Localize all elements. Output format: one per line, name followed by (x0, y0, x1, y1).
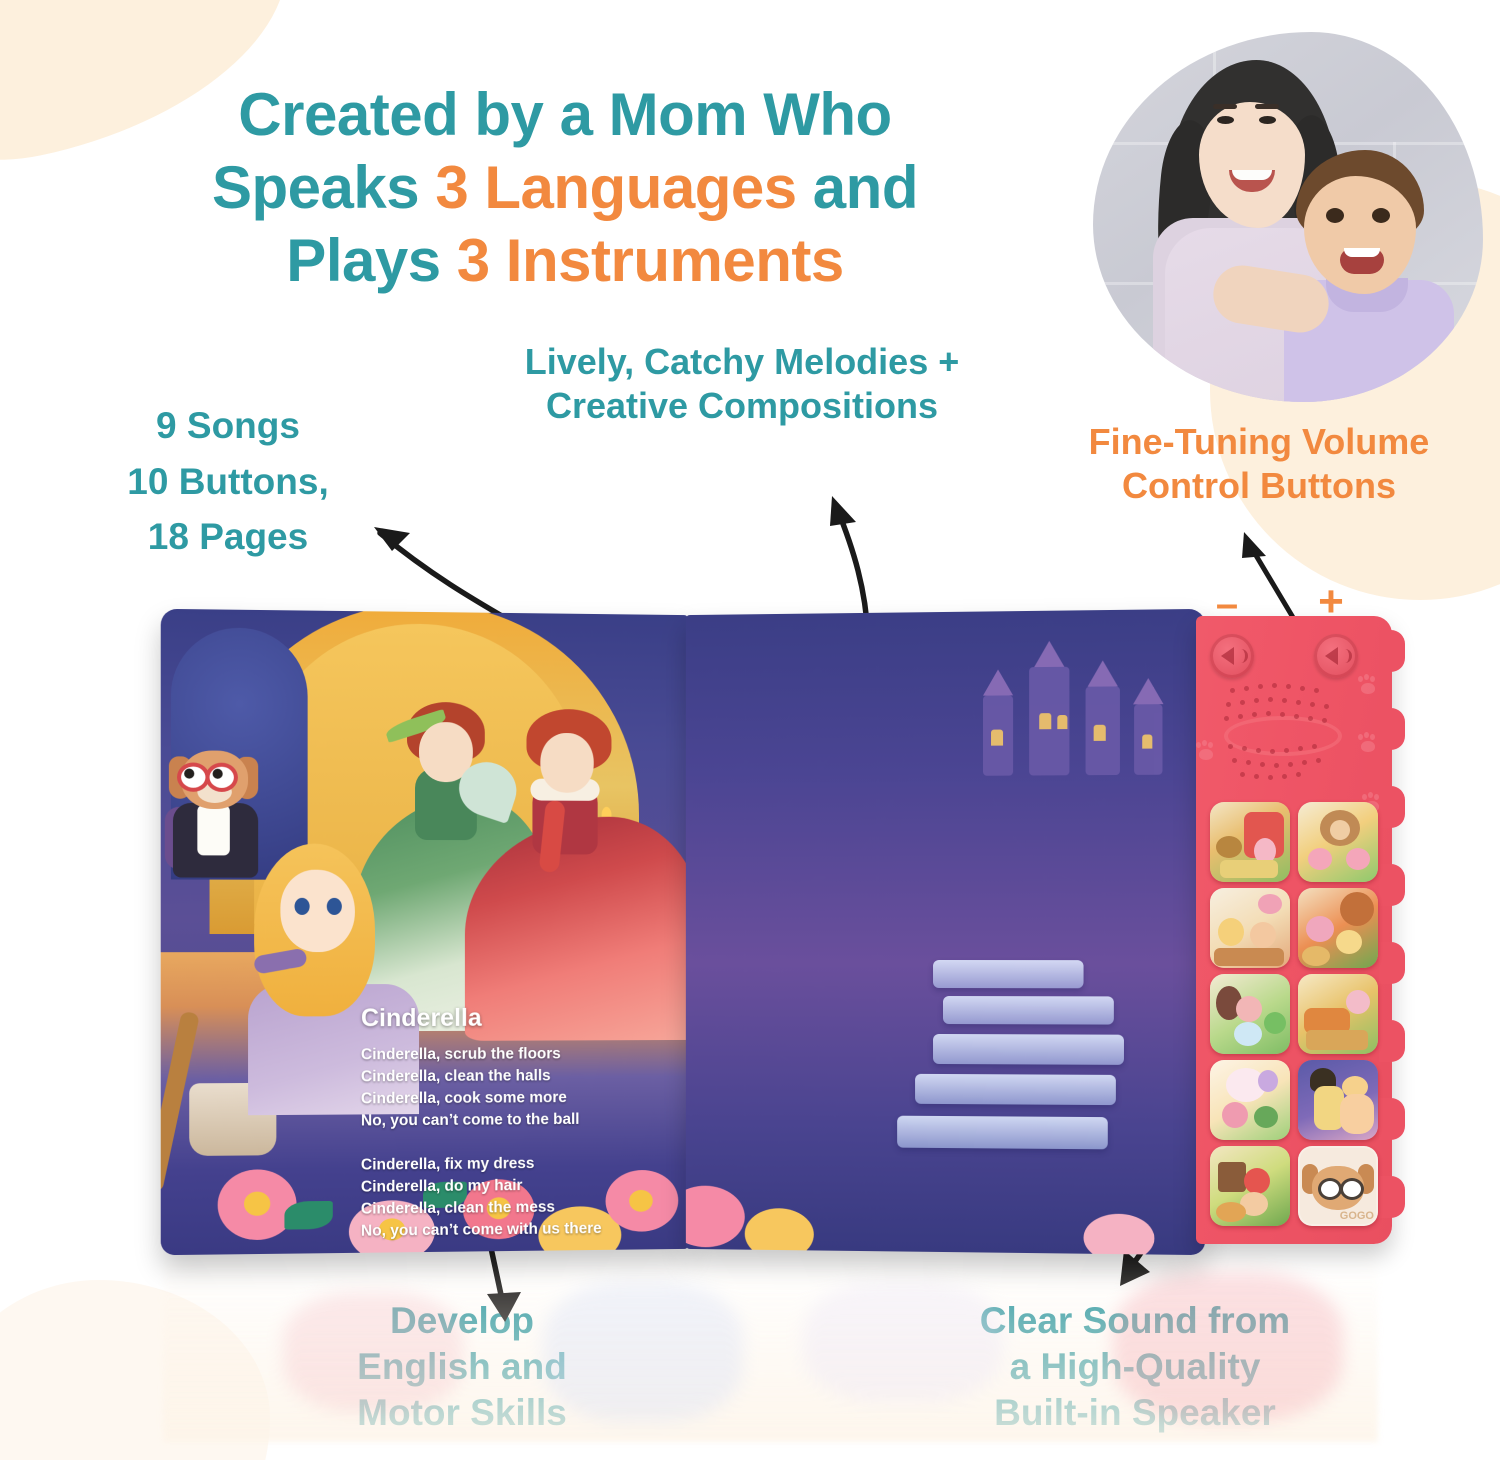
sound-button-1[interactable] (1210, 802, 1290, 882)
headline-line-2-highlight: 3 Languages (435, 154, 796, 221)
headline-line-2-suffix: and (797, 154, 918, 221)
glass-staircase (933, 934, 1205, 1176)
dog-mascot-tuxedo (171, 750, 260, 876)
callout-melodies: Lively, Catchy Melodies + Creative Compo… (452, 340, 1032, 428)
left-page-lyrics: Cinderella, scrub the floors Cinderella,… (361, 1043, 639, 1243)
sound-button-5[interactable] (1210, 974, 1290, 1054)
creator-photo (1093, 32, 1483, 402)
headline-line-2-prefix: Speaks (212, 154, 435, 221)
module-wavy-edge (1379, 616, 1405, 1244)
headline-line-3-highlight: 3 Instruments (457, 227, 844, 294)
volume-up-label: + (1309, 580, 1353, 624)
castle-silhouette (973, 623, 1185, 776)
sound-button-6[interactable] (1298, 974, 1378, 1054)
paw-print-icon (1358, 676, 1378, 694)
foreground-flowers-right (686, 609, 1205, 615)
toddler-face (1304, 176, 1416, 294)
speaker-plus-icon (1325, 647, 1338, 665)
dog-eye-right (213, 769, 223, 779)
headline-line-1: Created by a Mom Who (120, 78, 1010, 151)
sound-module[interactable]: GOGO (1196, 616, 1392, 1244)
dog-eye-left (184, 769, 194, 779)
product-infographic: Created by a Mom Who Speaks 3 Languages … (0, 0, 1500, 1460)
callout-songs-buttons-pages: 9 Songs 10 Buttons, 18 Pages (78, 398, 378, 565)
mom-eye-right (1259, 116, 1276, 124)
sound-button-8[interactable] (1298, 1060, 1378, 1140)
photo-blob-mask (1093, 32, 1483, 402)
sound-button-grid[interactable]: GOGO (1210, 802, 1378, 1232)
mom-eyebrow-right (1255, 104, 1279, 109)
speaker-grille (1216, 678, 1348, 786)
book-page-right[interactable]: I will be the one To marry the prince, i… (686, 609, 1205, 1255)
headline-line-3: Plays 3 Instruments (120, 224, 1010, 297)
sound-button-4[interactable] (1298, 888, 1378, 968)
book-page-left[interactable]: Cinderella Cinderella, scrub the floors … (161, 609, 688, 1255)
mascot-glasses-right (1340, 1178, 1364, 1200)
volume-up-button[interactable] (1314, 634, 1358, 678)
volume-down-label: – (1205, 584, 1249, 624)
page-headline: Created by a Mom Who Speaks 3 Languages … (120, 78, 1010, 298)
paw-print-icon (1196, 742, 1216, 760)
toddler-eye-left (1326, 208, 1344, 223)
sound-button-9[interactable] (1210, 1146, 1290, 1226)
speaker-minus-icon (1221, 647, 1234, 665)
sound-button-10[interactable]: GOGO (1298, 1146, 1378, 1226)
sound-button-3[interactable] (1210, 888, 1290, 968)
headline-line-3-prefix: Plays (286, 227, 456, 294)
gogo-brand-mark: GOGO (1340, 1211, 1374, 1222)
stepsister-red (483, 708, 685, 1037)
volume-down-button[interactable] (1210, 634, 1254, 678)
sound-button-2[interactable] (1298, 802, 1378, 882)
volume-arc (1340, 649, 1352, 663)
paw-print-icon (1358, 734, 1378, 752)
song-title: Cinderella (361, 1004, 482, 1033)
callout-volume-control: Fine-Tuning Volume Control Buttons (1034, 420, 1484, 508)
mascot-glasses-left (1318, 1178, 1342, 1200)
red-lady-face (540, 733, 593, 793)
cinderella-face (280, 870, 355, 952)
cinderella-eye-left (295, 898, 310, 915)
sound-button-7[interactable] (1210, 1060, 1290, 1140)
cinderella-eye-right (327, 898, 342, 915)
dog-shirt (197, 805, 229, 856)
volume-arc (1236, 649, 1248, 663)
book-reflection (163, 1252, 1378, 1442)
mom-eye-left (1217, 116, 1234, 124)
headline-line-2: Speaks 3 Languages and (120, 151, 1010, 224)
sound-book[interactable]: Cinderella Cinderella, scrub the floors … (163, 612, 1203, 1252)
dog-glasses-right (205, 763, 237, 792)
mom-eyebrow-left (1213, 104, 1237, 109)
headline-line-1-text: Created by a Mom Who (238, 81, 891, 148)
toddler-teeth (1344, 248, 1380, 257)
mom-teeth (1232, 170, 1272, 180)
toddler-eye-right (1372, 208, 1390, 223)
